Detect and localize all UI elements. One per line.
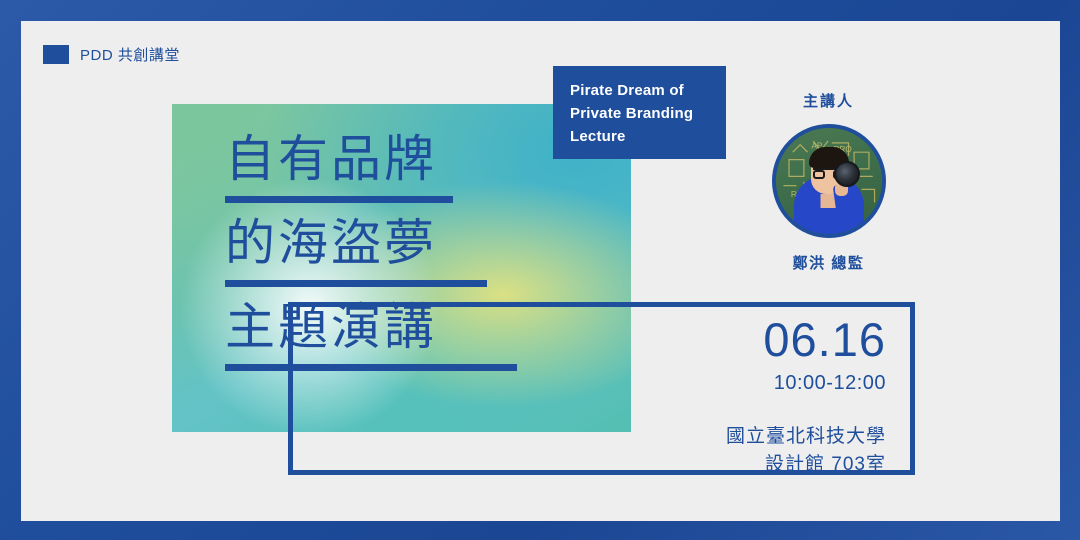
event-info: 06.16 10:00-12:00 國立臺北科技大學 設計館 703室 bbox=[660, 316, 886, 478]
title-rule-1 bbox=[225, 196, 453, 203]
event-venue: 國立臺北科技大學 設計館 703室 bbox=[660, 423, 886, 478]
camera-lens-icon bbox=[834, 161, 860, 187]
speaker-section: 主講人 PRO RC SUB bbox=[736, 90, 921, 273]
poster-canvas: PDD 共創講堂 自有品牌 的海盜夢 主題演講 Pirate Dream of … bbox=[0, 0, 1080, 540]
brand-name: PDD 共創講堂 bbox=[80, 44, 180, 65]
brand-square-icon bbox=[43, 45, 69, 64]
title-row: 的海盜夢 bbox=[225, 218, 645, 287]
english-line-3: Lecture bbox=[570, 125, 726, 148]
venue-line-2: 設計館 703室 bbox=[660, 451, 886, 479]
brand-lockup: PDD 共創講堂 bbox=[43, 44, 180, 65]
english-subtitle-block: Pirate Dream of Private Branding Lecture bbox=[553, 66, 726, 159]
english-line-1: Pirate Dream of bbox=[570, 79, 726, 102]
speaker-label: 主講人 bbox=[736, 90, 921, 111]
event-time: 10:00-12:00 bbox=[660, 372, 886, 395]
event-date: 06.16 bbox=[660, 316, 886, 363]
english-line-2: Private Branding bbox=[570, 102, 726, 125]
speaker-avatar: PRO RC SUB AP bbox=[772, 124, 886, 238]
title-line-2: 的海盜夢 bbox=[225, 218, 645, 268]
title-rule-2 bbox=[225, 280, 487, 287]
venue-line-1: 國立臺北科技大學 bbox=[660, 423, 886, 451]
speaker-name: 鄭洪 總監 bbox=[736, 252, 921, 273]
